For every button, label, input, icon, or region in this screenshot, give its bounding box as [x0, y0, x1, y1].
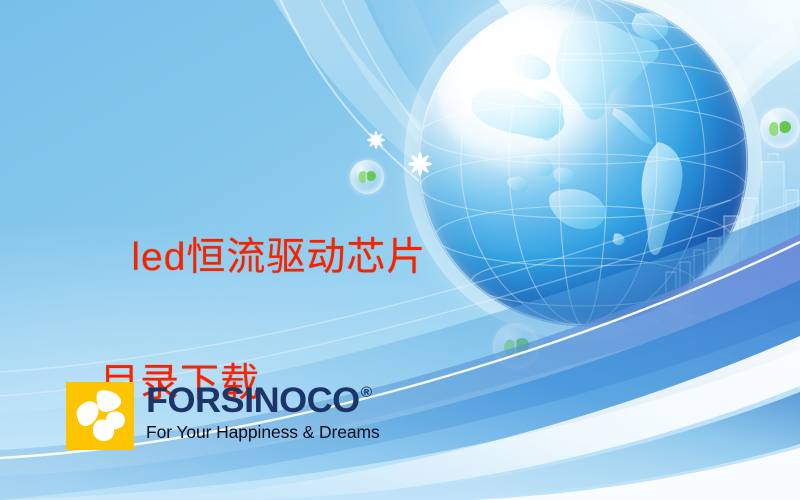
four-petal-flower-mark-icon: [66, 382, 134, 450]
logo-tagline: For Your Happiness & Dreams: [146, 423, 380, 442]
headline-line-1: led恒流驱动芯片: [131, 236, 426, 279]
product-banner: led恒流驱动芯片 目录下载 FORSINOCO ® For Your Happ…: [0, 0, 800, 500]
green-sprout-icon: [760, 108, 800, 148]
registered-trademark-icon: ®: [361, 385, 372, 400]
logo-wordmark: FORSINOCO ®: [146, 383, 387, 418]
logo-wordmark-text: FORSINOCO: [146, 383, 360, 418]
bubble-sprout-right: [760, 108, 800, 148]
company-logo: FORSINOCO ® For Your Happiness & Dreams: [66, 382, 380, 450]
white-flower-small-icon: [364, 128, 388, 152]
